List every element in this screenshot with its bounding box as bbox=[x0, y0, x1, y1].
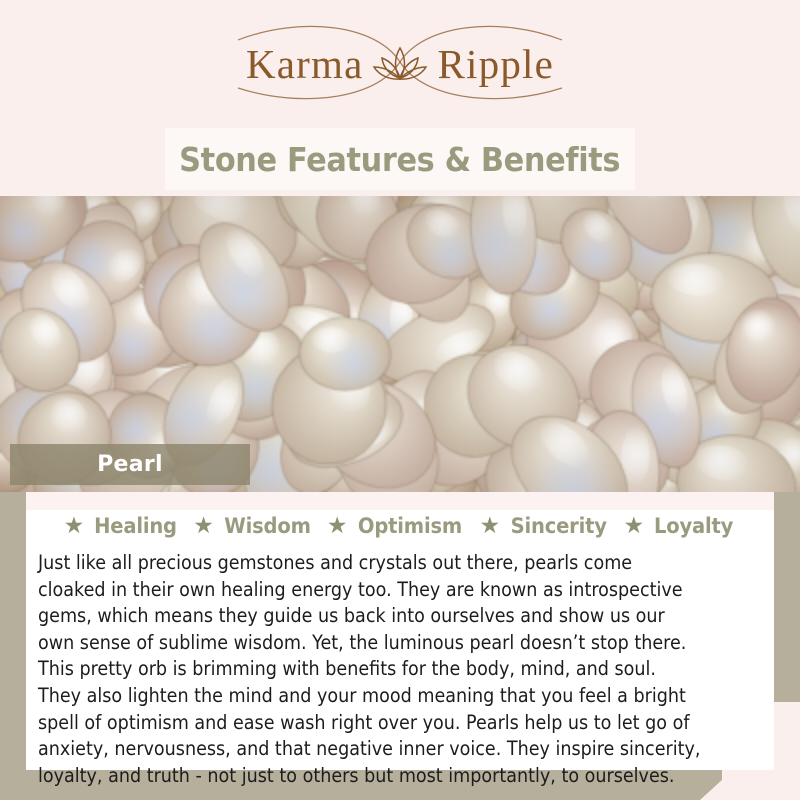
description-text: Just like all precious gemstones and cry… bbox=[38, 550, 702, 789]
stone-photo: Pearl bbox=[0, 196, 800, 492]
benefit-item: ★ Sincerity bbox=[479, 514, 610, 538]
benefit-label: Optimism bbox=[358, 514, 462, 538]
lotus-flower-icon bbox=[371, 42, 429, 86]
logo-wrap: Karma Ripple bbox=[180, 18, 620, 110]
benefit-label: Sincerity bbox=[511, 514, 607, 538]
infographic-page: Karma Ripple Stone Features & Benefits P… bbox=[0, 0, 800, 800]
brand-name-right: Ripple bbox=[438, 40, 555, 88]
brand-logo: Karma Ripple bbox=[0, 0, 800, 128]
benefits-row: ★ Healing ★ Wisdom ★ Optimism ★ Sincerit… bbox=[26, 514, 774, 538]
content-card: ★ Healing ★ Wisdom ★ Optimism ★ Sincerit… bbox=[26, 492, 774, 770]
stone-name-bar: Pearl bbox=[10, 444, 250, 485]
page-title: Stone Features & Benefits bbox=[180, 140, 621, 179]
star-icon: ★ bbox=[624, 514, 645, 537]
benefit-label: Loyalty bbox=[654, 514, 733, 538]
brand-name-left: Karma bbox=[246, 40, 364, 88]
stone-name: Pearl bbox=[97, 452, 163, 477]
title-band: Stone Features & Benefits bbox=[0, 128, 800, 196]
benefit-item: ★ Optimism bbox=[327, 514, 467, 538]
benefit-label: Healing bbox=[94, 514, 177, 538]
benefit-item: ★ Wisdom bbox=[193, 514, 314, 538]
star-icon: ★ bbox=[64, 514, 85, 537]
benefit-item: ★ Healing bbox=[64, 514, 181, 538]
card-top-tint bbox=[26, 492, 774, 510]
benefit-label: Wisdom bbox=[224, 514, 311, 538]
star-icon: ★ bbox=[193, 514, 214, 537]
frame-border-left bbox=[0, 470, 26, 800]
title-plate: Stone Features & Benefits bbox=[165, 128, 635, 190]
star-icon: ★ bbox=[479, 514, 500, 537]
star-icon: ★ bbox=[327, 514, 348, 537]
benefit-item: ★ Loyalty bbox=[624, 514, 737, 538]
